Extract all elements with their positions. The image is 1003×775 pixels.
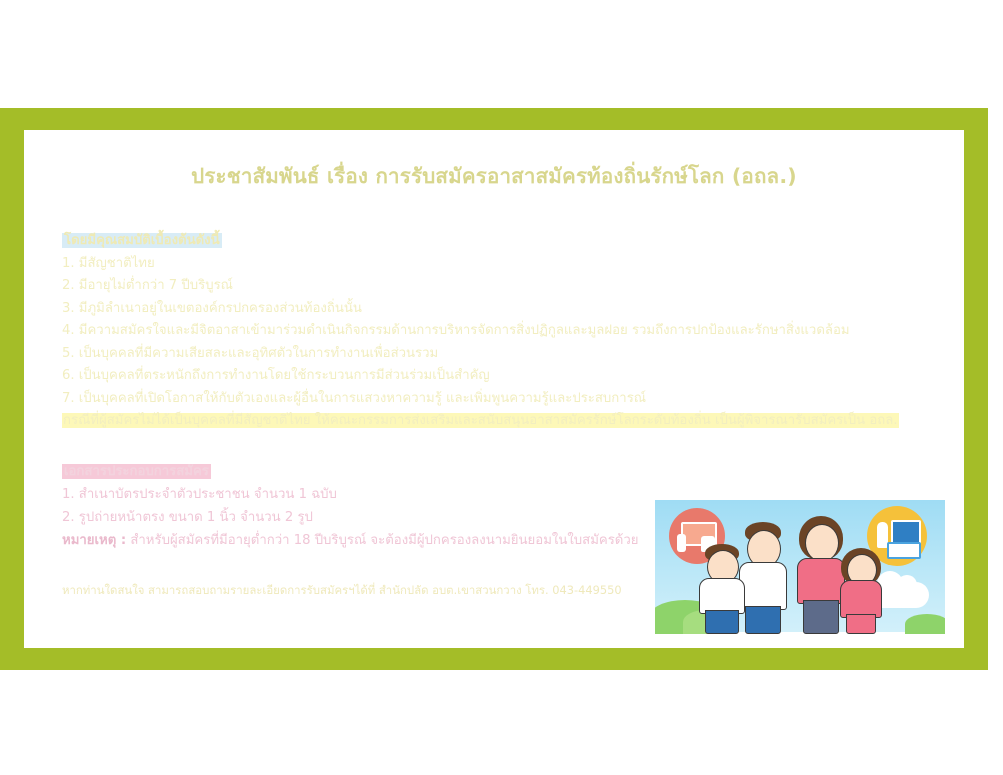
- qualification-item: 6. เป็นบุคคลที่ตระหนักถึงการทำงานโดยใช้ก…: [62, 365, 942, 388]
- ground-strip: [655, 632, 945, 648]
- qualification-item: 7. เป็นบุคคลที่เปิดโอกาสให้กับตัวเองและผ…: [62, 388, 942, 411]
- qualifications-section: โดยมีคุณสมบัติเบื้องต้นดังนี้ 1. มีสัญชา…: [62, 230, 942, 433]
- head-shape: [805, 524, 839, 562]
- page-title: ประชาสัมพันธ์ เรื่อง การรับสมัครอาสาสมัค…: [24, 160, 964, 193]
- poster-frame: ประชาสัมพันธ์ เรื่อง การรับสมัครอาสาสมัค…: [0, 108, 988, 670]
- qualification-item: 5. เป็นบุคคลที่มีความเสียสละและอุทิศตัวใ…: [62, 343, 942, 366]
- legs-shape: [705, 610, 739, 634]
- qualifications-heading: โดยมีคุณสมบัติเบื้องต้นดังนี้: [62, 230, 942, 253]
- documents-note-label: หมายเหตุ :: [62, 533, 126, 548]
- qualifications-note-paragraph: กรณีที่ผู้สมัครไม่ได้เป็นบุคคลที่มีสัญชา…: [62, 410, 942, 433]
- documents-note-text: สำหรับผู้สมัครที่มีอายุต่ำกว่า 18 ปีบริบ…: [126, 533, 638, 548]
- legs-shape: [745, 606, 781, 634]
- paper-stack-icon: [887, 542, 921, 559]
- qualification-item: 3. มีภูมิลำเนาอยู่ในเขตองค์กรปกครองส่วนท…: [62, 298, 942, 321]
- torso-shape: [699, 578, 745, 614]
- qualifications-heading-text: โดยมีคุณสมบัติเบื้องต้นดังนี้: [62, 233, 222, 248]
- boy-figure: [697, 536, 749, 632]
- legs-shape: [803, 600, 839, 634]
- legs-shape: [846, 614, 876, 634]
- contact-line: หากท่านใดสนใจ สามารถสอบถามรายละเอียดการร…: [62, 582, 662, 600]
- girl-figure: [837, 540, 887, 632]
- qualifications-note-text: กรณีที่ผู้สมัครไม่ได้เป็นบุคคลที่มีสัญชา…: [62, 413, 899, 428]
- documents-heading: เอกสารประกอบการสมัคร: [62, 460, 942, 483]
- family-recycling-illustration: [655, 500, 945, 648]
- qualification-item: 2. มีอายุไม่ต่ำกว่า 7 ปีบริบูรณ์: [62, 275, 942, 298]
- poster-sheet: ประชาสัมพันธ์ เรื่อง การรับสมัครอาสาสมัค…: [24, 130, 964, 648]
- documents-heading-text: เอกสารประกอบการสมัคร: [62, 464, 211, 479]
- qualification-item: 4. มีความสมัครใจและมีจิตอาสาเข้ามาร่วมดำ…: [62, 320, 942, 343]
- qualification-item: 1. มีสัญชาติไทย: [62, 253, 942, 276]
- torso-shape: [840, 580, 882, 618]
- bottle-icon: [677, 534, 686, 552]
- bush-icon: [905, 614, 945, 634]
